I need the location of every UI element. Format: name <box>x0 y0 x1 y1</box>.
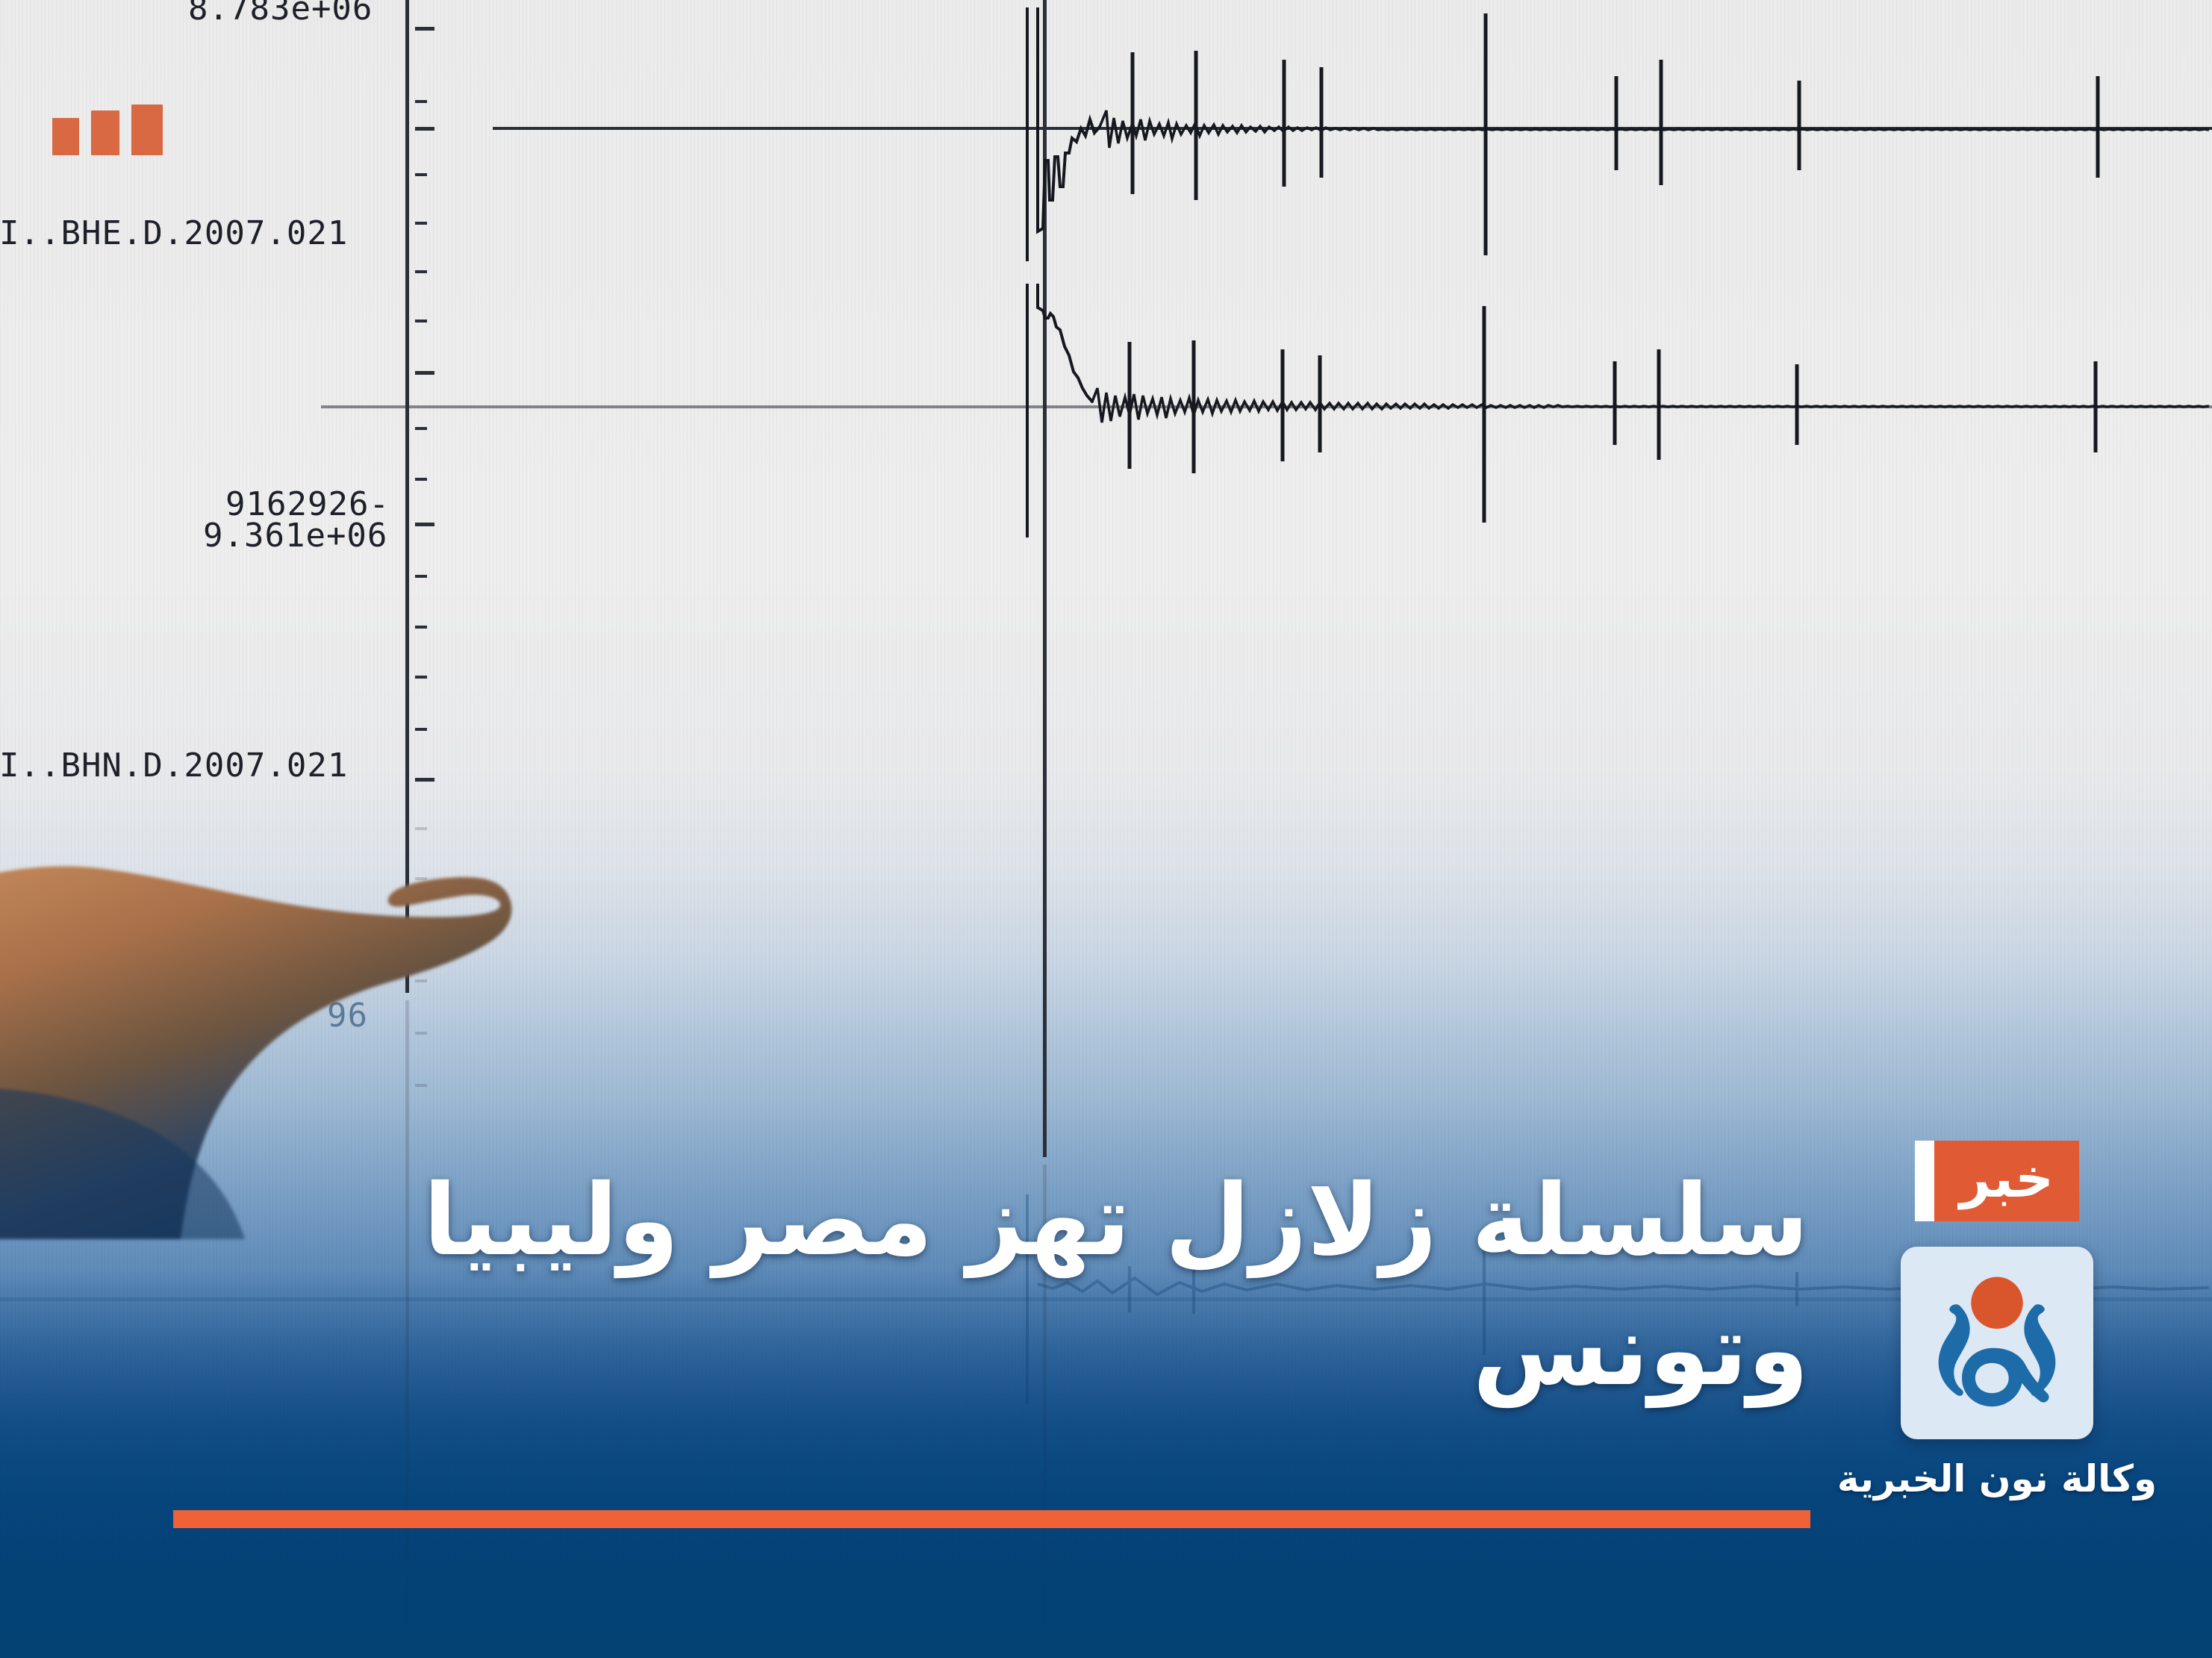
bar-chart-mark-icon <box>52 105 163 155</box>
axis-tick <box>415 427 427 430</box>
agency-name: وكالة نون الخبرية <box>1837 1460 2157 1498</box>
accent-underline <box>173 1510 1810 1528</box>
axis-tick <box>415 371 434 375</box>
trace-label-bhe: MMI..BHE.D.2007.021 <box>0 214 348 252</box>
news-badge: خبر <box>1915 1141 2079 1221</box>
seismic-trace-2 <box>1023 284 2212 537</box>
noon-agency-logo-icon <box>1913 1259 2081 1427</box>
axis-tick <box>415 127 434 131</box>
axis-tick <box>415 100 427 103</box>
axis-tick <box>415 173 427 176</box>
axis-tick <box>415 222 427 225</box>
news-badge-label: خبر <box>1960 1151 2054 1205</box>
scale-label-max: 9.361e+06 <box>203 517 387 555</box>
axis-tick <box>415 270 427 273</box>
news-card: 8.783e+06 MMI..BHE.D.2007.021 -9162926 9… <box>0 0 2212 1658</box>
brand-block: خبر وكالة نون الخبرية <box>1848 1141 2146 1498</box>
agency-logo-tile <box>1901 1247 2093 1439</box>
news-badge-box: خبر <box>1934 1141 2079 1221</box>
scale-label-top: 8.783e+06 <box>188 0 373 28</box>
pointing-hand-silhouette <box>0 567 702 1239</box>
axis-tick <box>415 27 434 31</box>
seismic-trace-1 <box>1023 7 2212 261</box>
axis-tick <box>415 478 427 481</box>
headline-text: سلسلة زلازل تهز مصر وليبيا وتونس <box>149 1156 1809 1415</box>
axis-tick <box>415 320 427 322</box>
axis-tick <box>415 523 434 526</box>
news-badge-white-bar <box>1915 1141 1934 1221</box>
